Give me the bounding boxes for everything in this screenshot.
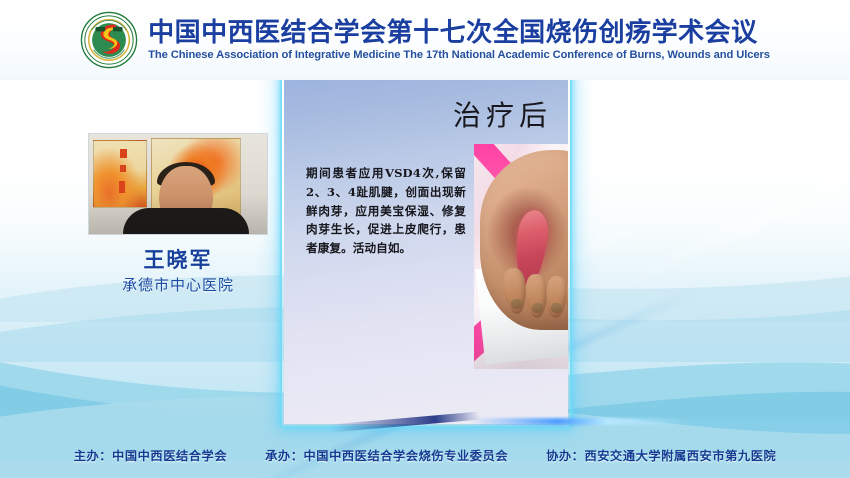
footer-organizer: 主办：中国中西医结合学会	[74, 446, 227, 464]
clinical-photo	[474, 144, 568, 369]
webcam-vignette	[89, 134, 267, 234]
slide-bottom-light-streak	[470, 418, 690, 425]
speaker-panel: 王晓军 承德市中心医院	[88, 133, 268, 294]
conference-header: 中国中西医结合学会第十七次全国烧伤创疡学术会议 The Chinese Asso…	[0, 0, 850, 80]
caim-emblem-logo-icon	[80, 11, 138, 69]
footer-coorganizer: 协办：西安交通大学附属西安市第九医院	[546, 446, 776, 464]
conference-title-en: The Chinese Association of Integrative M…	[148, 49, 770, 61]
slide-title: 治疗后	[284, 102, 552, 130]
photo-vignette	[474, 144, 568, 369]
speaker-name: 王晓军	[88, 249, 268, 272]
presentation-slide[interactable]: 治疗后 期间患者应用VSD4次,保留2、3、4趾肌腱，创面出现新鲜肉芽，应用美宝…	[284, 76, 568, 424]
speaker-organization: 承德市中心医院	[88, 277, 268, 294]
slide-body-text: 期间患者应用VSD4次,保留2、3、4趾肌腱，创面出现新鲜肉芽，应用美宝保湿、修…	[306, 164, 466, 258]
sponsor-footer: 主办：中国中西医结合学会 承办：中国中西医结合学会烧伤专业委员会 协办：西安交通…	[0, 432, 850, 478]
conference-title-cn: 中国中西医结合学会第十七次全国烧伤创疡学术会议	[148, 19, 770, 47]
presentation-stage: 中国中西医结合学会第十七次全国烧伤创疡学术会议 The Chinese Asso…	[0, 0, 850, 478]
webcam-video[interactable]	[88, 133, 268, 235]
footer-host: 承办：中国中西医结合学会烧伤专业委员会	[265, 446, 508, 464]
